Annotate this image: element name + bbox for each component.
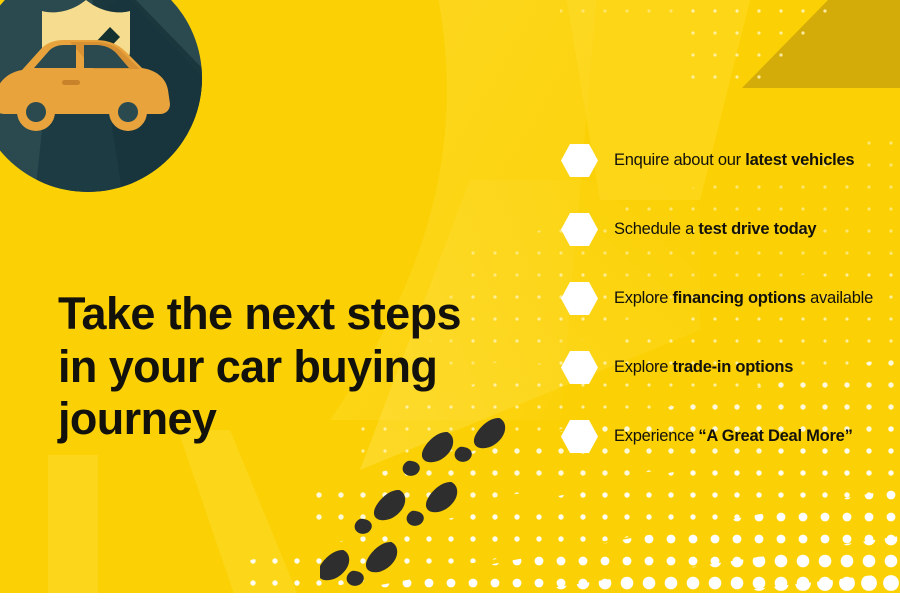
bullet-lead-3: Explore [614,289,673,307]
list-item[interactable]: Experience “A Great Deal More” [561,402,895,471]
list-item[interactable]: Explore trade-in options [561,333,895,402]
bullet-tail-3: available [806,289,873,307]
list-item-label: Schedule a test drive today [614,220,816,239]
next-steps-list: Enquire about our latest vehicles Schedu… [561,126,895,471]
headline-line-2: in your car buying [58,341,528,394]
bullet-bold-4: trade-in options [673,358,794,376]
hexagon-bullet-icon [561,213,598,246]
headline-line-1: Take the next steps [58,288,528,341]
shoe-prints-decoration [320,405,580,600]
hexagon-bullet-icon [561,351,598,384]
bullet-lead-2: Schedule a [614,220,698,238]
bullet-bold-3: financing options [673,289,806,307]
list-item[interactable]: Enquire about our latest vehicles [561,126,895,195]
bottom-white-strip [0,593,900,600]
list-item-label: Explore financing options available [614,289,873,308]
bullet-bold-5: “A Great Deal More” [698,427,852,445]
bullet-bold-2: test drive today [698,220,816,238]
list-item[interactable]: Explore financing options available [561,264,895,333]
poster-canvas: Take the next steps in your car buying j… [0,0,900,600]
list-item[interactable]: Schedule a test drive today [561,195,895,264]
list-item-label: Experience “A Great Deal More” [614,427,853,446]
list-item-label: Explore trade-in options [614,358,793,377]
list-item-label: Enquire about our latest vehicles [614,151,854,170]
hexagon-bullet-icon [561,144,598,177]
bullet-lead-1: Enquire about our [614,151,745,169]
car-shield-badge [0,0,202,192]
hexagon-bullet-icon [561,282,598,315]
bullet-bold-1: latest vehicles [745,151,854,169]
bullet-lead-5: Experience [614,427,698,445]
bullet-lead-4: Explore [614,358,673,376]
